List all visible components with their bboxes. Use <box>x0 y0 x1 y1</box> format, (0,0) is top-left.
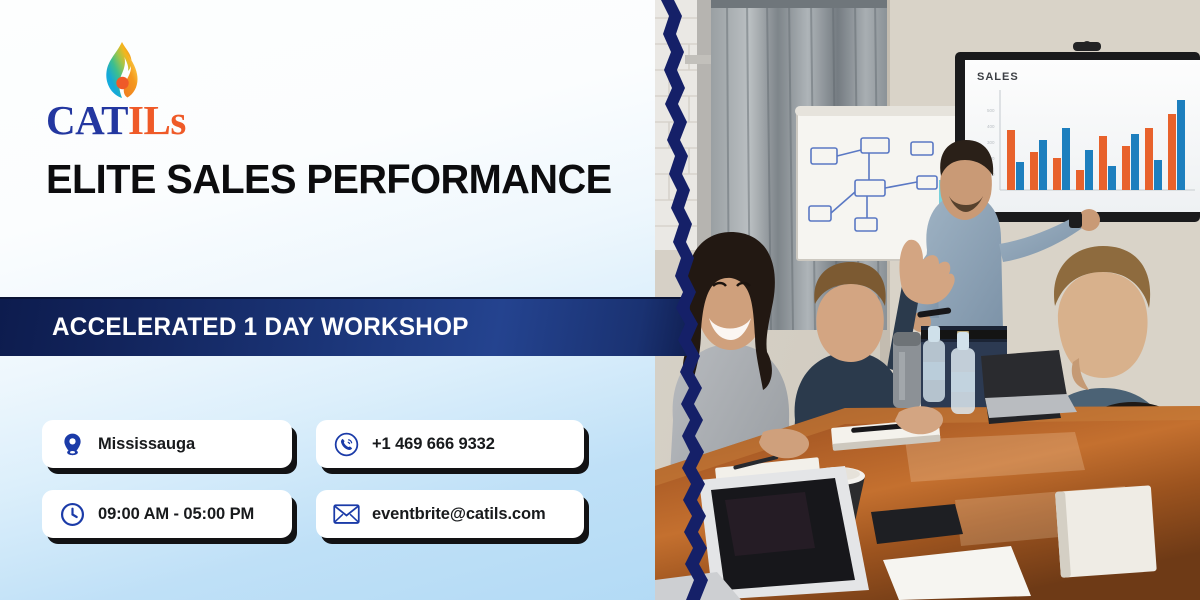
svg-text:500: 500 <box>987 108 995 113</box>
page-title: ELITE SALES PERFORMANCE <box>46 156 628 203</box>
map-pin-icon <box>58 430 86 458</box>
info-pill-location[interactable]: Mississauga <box>42 420 292 468</box>
phone-value: +1 469 666 9332 <box>372 435 495 454</box>
phone-icon <box>332 430 360 458</box>
brand-wordmark-primary: CAT <box>46 97 128 143</box>
brand-wordmark-secondary-small: s <box>170 97 185 143</box>
svg-text:400: 400 <box>987 124 995 129</box>
info-pill-phone[interactable]: +1 469 666 9332 <box>316 420 584 468</box>
svg-text:300: 300 <box>987 140 995 145</box>
screen-label: SALES <box>977 71 1019 83</box>
brand-wordmark: CATILs <box>46 96 211 144</box>
subtitle-band: ACCELERATED 1 DAY WORKSHOP <box>0 297 690 356</box>
subtitle-text: ACCELERATED 1 DAY WORKSHOP <box>52 313 469 342</box>
flame-icon <box>102 40 142 100</box>
envelope-icon <box>332 500 360 528</box>
info-pill-email[interactable]: eventbrite@catils.com <box>316 490 584 538</box>
time-value: 09:00 AM - 05:00 PM <box>98 505 254 524</box>
email-value: eventbrite@catils.com <box>372 505 546 524</box>
presentation-screen: SALES <box>955 41 1200 222</box>
conference-room-illustration: SALES <box>655 0 1200 600</box>
brand-logo: CATILs <box>46 40 211 140</box>
brand-wordmark-secondary: IL <box>128 97 170 143</box>
location-value: Mississauga <box>98 435 195 454</box>
event-banner: CATILs ELITE SALES PERFORMANCE <box>0 0 1200 600</box>
clock-icon <box>58 500 86 528</box>
event-photo: SALES <box>655 0 1200 600</box>
info-pill-time[interactable]: 09:00 AM - 05:00 PM <box>42 490 292 538</box>
